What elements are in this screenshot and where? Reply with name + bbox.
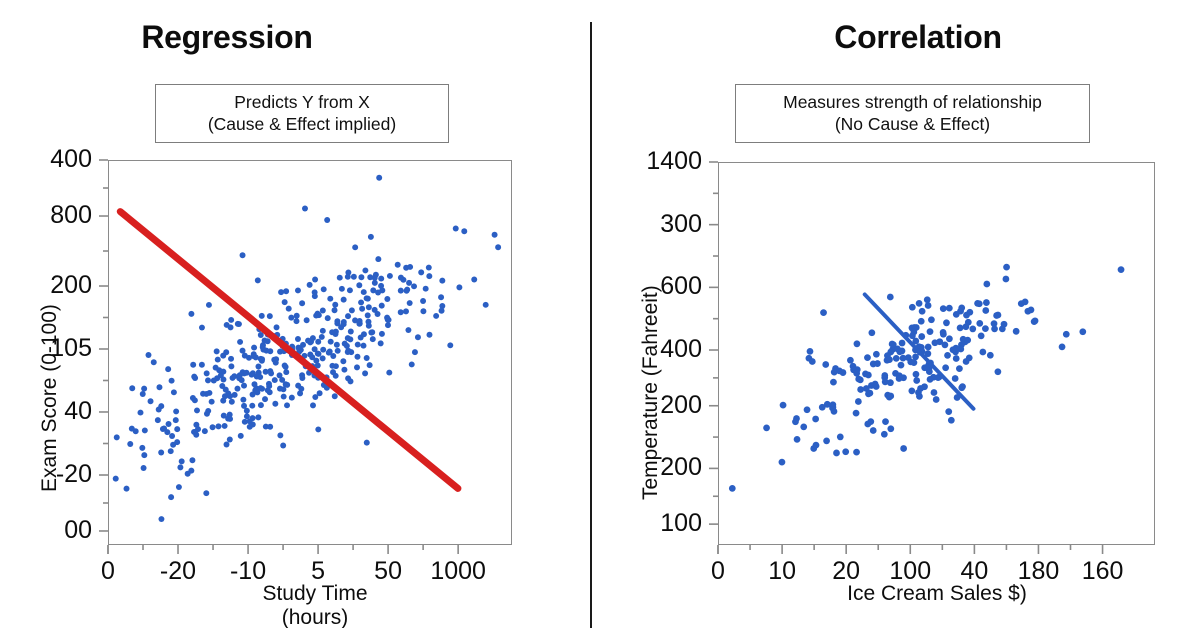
x-axis-title-regression: Study Time (hours) [180, 582, 450, 628]
y-tick-label: 300 [598, 212, 702, 237]
slide-canvas: Regression Predicts Y from X (Cause & Ef… [0, 0, 1200, 628]
y-tick-label: 800 [0, 203, 92, 228]
scatter-plot-regression [108, 160, 512, 545]
scatter-plot-correlation [718, 162, 1155, 545]
callout-regression: Predicts Y from X (Cause & Effect implie… [155, 84, 449, 143]
x-tick-label: 1000 [398, 559, 518, 584]
x-axis-title-correlation-line1: Ice Cream Sales $) [847, 582, 1027, 605]
y-axis-title-regression: Exam Score (0-100) [38, 304, 62, 492]
y-tick-label: 100 [598, 511, 702, 536]
panel-regression: Regression Predicts Y from X (Cause & Ef… [0, 0, 590, 628]
callout-regression-line2: (Cause & Effect implied) [170, 113, 434, 135]
scatter-canvas-correlation [719, 163, 1154, 544]
callout-regression-line1: Predicts Y from X [170, 91, 434, 113]
x-axis-title-regression-line1: Study Time [262, 582, 367, 605]
x-axis-title-correlation: Ice Cream Sales $) [807, 582, 1067, 606]
x-axis-title-regression-line2: (hours) [282, 606, 349, 628]
page-title-correlation: Correlation [614, 20, 1200, 55]
callout-correlation-line1: Measures strength of relationship [750, 91, 1075, 113]
callout-correlation: Measures strength of relationship (No Ca… [735, 84, 1090, 143]
scatter-canvas-regression [109, 161, 511, 544]
y-axis-title-correlation: Temperature (Fahreeit) [639, 285, 663, 500]
y-tick-label: 1400 [598, 149, 702, 174]
page-title-regression: Regression [0, 20, 522, 55]
x-tick-label: 160 [1043, 559, 1163, 584]
y-tick-label: 400 [0, 147, 92, 172]
panel-correlation: Correlation Measures strength of relatio… [592, 0, 1200, 628]
y-tick-label: 00 [0, 518, 92, 543]
callout-correlation-line2: (No Cause & Effect) [750, 113, 1075, 135]
y-tick-label: 200 [0, 273, 92, 298]
